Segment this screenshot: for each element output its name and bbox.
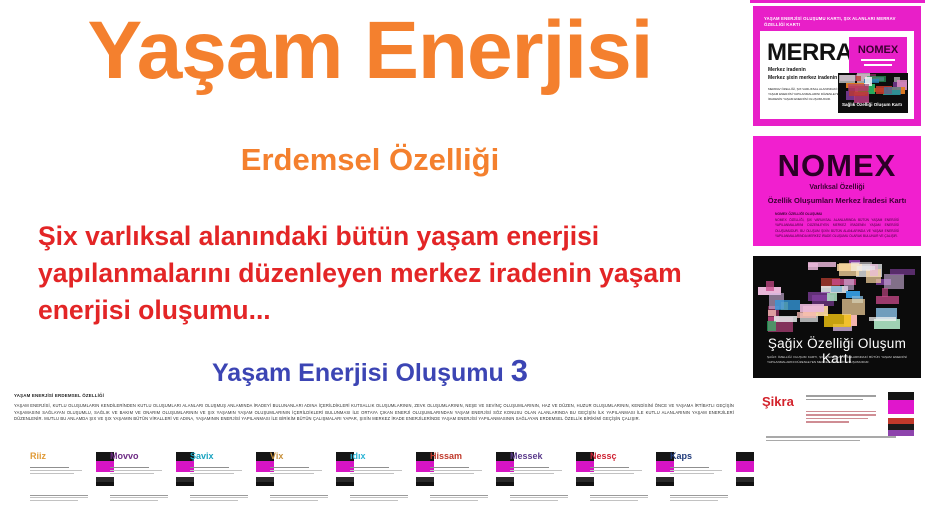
card-sikra-body-lines bbox=[806, 411, 876, 425]
logo-card-lines bbox=[350, 467, 406, 476]
card-nomex-sub1: Varlıksal Özelliği bbox=[753, 184, 921, 191]
logo-card-footer bbox=[270, 497, 330, 503]
card-merrav-photo: Sağlık Özelliği Oluşum Kartı bbox=[838, 73, 908, 113]
logo-card-rule bbox=[350, 495, 408, 496]
logo-card-nessç[interactable]: Nessç bbox=[590, 452, 674, 492]
card-merrav-inner: YAŞAM ENERJİSİ OLUŞUMU KARTI, ŞIX ALANLA… bbox=[757, 10, 917, 122]
card-sikra[interactable]: Şikra bbox=[762, 392, 914, 440]
card-merrav[interactable]: YAŞAM ENERJİSİ OLUŞUMU KARTI, ŞIX ALANLA… bbox=[753, 6, 921, 126]
logo-rule-2 bbox=[864, 64, 892, 66]
logo-card-vix[interactable]: Vix bbox=[270, 452, 354, 492]
logo-card-lines bbox=[110, 467, 166, 476]
card-saglik-paragraph: ŞAĞIX ÖZELLİĞİ OLUŞUM KARTI, ŞIX VARLIKS… bbox=[767, 355, 907, 366]
slide-caption: Yaşam Enerjisi Oluşumu 3 bbox=[0, 353, 740, 389]
card-sikra-footer-lines bbox=[766, 436, 896, 443]
card-nomex-sub2: Özellik Oluşumları Merkez İradesi Kartı bbox=[753, 196, 921, 205]
card-saglik-mosaic bbox=[758, 260, 916, 332]
logo-card-footer bbox=[430, 497, 490, 503]
card-merrav-banner-text: YAŞAM ENERJİSİ OLUŞUMU KARTI, ŞIX ALANLA… bbox=[760, 13, 914, 28]
logo-card-lines bbox=[190, 467, 246, 476]
fine-print-heading: YAŞAM ENERJİSİ ERDEMSEL ÖZELLİĞİ bbox=[14, 393, 734, 398]
logo-card-footer bbox=[590, 497, 650, 503]
logo-card-rule bbox=[510, 495, 568, 496]
main-content-area: Yaşam Enerjisi Erdemsel Özelliği Şix var… bbox=[0, 0, 752, 390]
logo-card-rule bbox=[190, 495, 248, 496]
logo-card-rule bbox=[670, 495, 728, 496]
card-merrav-photo-caption: Sağlık Özelliği Oluşum Kartı bbox=[842, 102, 902, 107]
caption-number: 3 bbox=[511, 353, 528, 388]
logo-rule-1 bbox=[861, 59, 895, 61]
logo-card-footer bbox=[350, 497, 410, 503]
card-saglik-inner: Şağix Özelliği Oluşum Kartı ŞAĞIX ÖZELLİ… bbox=[753, 256, 921, 378]
caption-label: Yaşam Enerjisi Oluşumu bbox=[212, 359, 504, 387]
logo-card-lines bbox=[510, 467, 566, 476]
logo-card-rule bbox=[590, 495, 648, 496]
card-nomex-para-heading: NOMEX ÖZELLİĞİ OLUŞUMU bbox=[775, 212, 822, 216]
card-sikra-brand: Şikra bbox=[762, 394, 794, 409]
logo-card-lines bbox=[590, 467, 646, 476]
card-sikra-heading-lines bbox=[806, 395, 876, 403]
logo-card-şavix[interactable]: Şavix bbox=[190, 452, 274, 492]
card-nomex[interactable]: NOMEX Varlıksal Özelliği Özellik Oluşuml… bbox=[753, 136, 921, 246]
logo-card-lines bbox=[670, 467, 726, 476]
card-nomex-brand: NOMEX bbox=[753, 148, 921, 184]
card-merrav-logo: NOMEX bbox=[849, 37, 907, 73]
card-saglik[interactable]: Şağix Özelliği Oluşum Kartı ŞAĞIX ÖZELLİ… bbox=[753, 256, 921, 378]
logo-card-rule bbox=[110, 495, 168, 496]
page-title: Yaşam Enerjisi bbox=[0, 8, 740, 94]
fine-print-block: YAŞAM ENERJİSİ ERDEMSEL ÖZELLİĞİ YAŞAM E… bbox=[14, 393, 734, 423]
fine-print-paragraph: YAŞAM ENERJİSİ, KUTLU OLUŞUMLARIN KENDİL… bbox=[14, 403, 734, 423]
logo-card-footer bbox=[670, 497, 730, 503]
thumbnail-logo-strip: RiizMovvoŞavixVixıdıxHissamMessekNessçKa… bbox=[30, 452, 750, 497]
logo-card-footer bbox=[190, 497, 250, 503]
logo-card-thumbnail bbox=[736, 452, 754, 486]
logo-card-lines bbox=[30, 467, 86, 476]
slide-canvas: Yaşam Enerjisi Erdemsel Özelliği Şix var… bbox=[0, 0, 925, 527]
logo-card-kaps[interactable]: Kaps bbox=[670, 452, 754, 492]
logo-card-riiz[interactable]: Riiz bbox=[30, 452, 114, 492]
card-merrav-logo-text: NOMEX bbox=[858, 44, 898, 56]
logo-card-movvo[interactable]: Movvo bbox=[110, 452, 194, 492]
logo-card-lines bbox=[430, 467, 486, 476]
card-nomex-paragraph: NOMEX ÖZELLİĞİ, ŞIX VARLIKSAL ALANLARIND… bbox=[775, 218, 899, 240]
logo-card-ıdıx[interactable]: ıdıx bbox=[350, 452, 434, 492]
top-magenta-rule bbox=[750, 0, 925, 3]
logo-card-lines bbox=[270, 467, 326, 476]
card-sikra-thumbnail bbox=[888, 392, 914, 436]
page-subtitle: Erdemsel Özelliği bbox=[0, 142, 740, 178]
card-merrav-line1: Merkez iradenin bbox=[768, 67, 806, 73]
logo-card-rule bbox=[270, 495, 328, 496]
logo-card-rule bbox=[430, 495, 488, 496]
logo-card-footer bbox=[110, 497, 170, 503]
logo-card-footer bbox=[30, 497, 90, 503]
card-merrav-banner: YAŞAM ENERJİSİ OLUŞUMU KARTI, ŞIX ALANLA… bbox=[760, 13, 914, 31]
body-paragraph: Şix varlıksal alanındaki bütün yaşam ene… bbox=[38, 218, 738, 329]
logo-card-footer bbox=[510, 497, 570, 503]
logo-card-rule bbox=[30, 495, 88, 496]
logo-card-messek[interactable]: Messek bbox=[510, 452, 594, 492]
logo-card-hissam[interactable]: Hissam bbox=[430, 452, 514, 492]
